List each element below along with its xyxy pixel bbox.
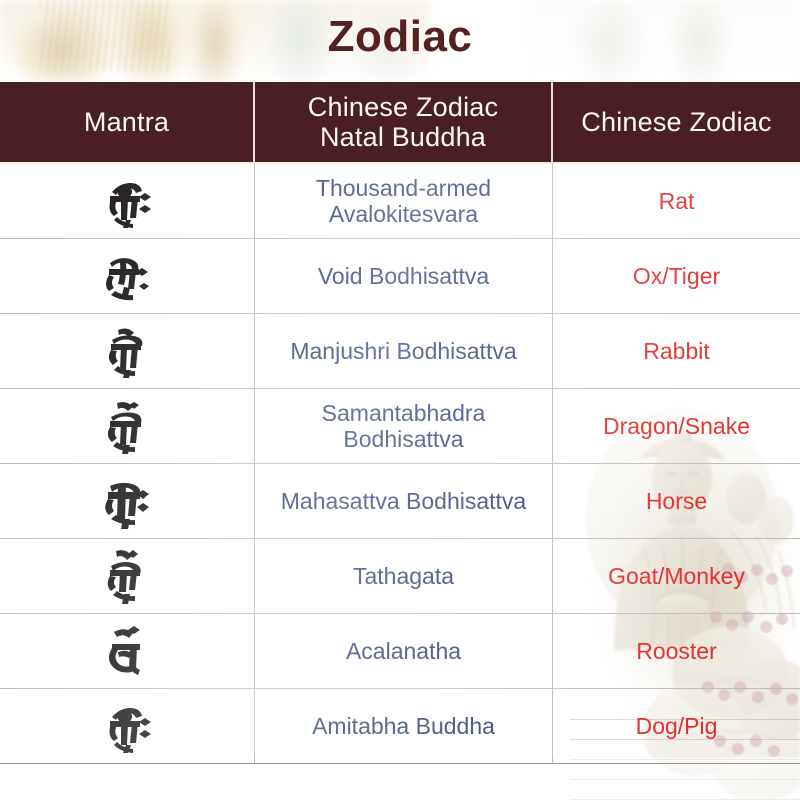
tibetan-seed-syllable-hrih-2-icon <box>96 697 158 755</box>
column-header-natal-buddha-line2: Natal Buddha <box>308 122 498 152</box>
cell-natal-buddha: Amitabha Buddha <box>255 689 553 763</box>
tibetan-seed-syllable-a-icon <box>96 322 158 380</box>
tibetan-seed-syllable-hum-icon <box>96 622 158 680</box>
cell-natal-buddha: Void Bodhisattva <box>255 239 553 313</box>
tibetan-seed-syllable-bhah-icon <box>96 547 158 605</box>
cell-natal-buddha: Thousand-armed Avalokitesvara <box>255 164 553 238</box>
zodiac-table: Mantra Chinese Zodiac Natal Buddha Chine… <box>0 82 800 764</box>
column-header-mantra-label: Mantra <box>84 107 169 137</box>
cell-mantra <box>0 614 255 688</box>
column-header-chinese-zodiac: Chinese Zodiac <box>553 82 800 162</box>
cell-chinese-zodiac: Horse <box>553 464 800 538</box>
column-header-natal-buddha: Chinese Zodiac Natal Buddha <box>255 82 553 162</box>
table-row: Manjushri Bodhisattva Rabbit <box>0 314 800 389</box>
cell-mantra <box>0 464 255 538</box>
column-header-natal-buddha-line1: Chinese Zodiac <box>308 92 498 122</box>
cell-natal-buddha: Manjushri Bodhisattva <box>255 314 553 388</box>
cell-mantra <box>0 239 255 313</box>
cell-chinese-zodiac: Rat <box>553 164 800 238</box>
cell-natal-buddha-line1: Samantabhadra <box>322 400 486 426</box>
tibetan-seed-syllable-sa-icon <box>96 472 158 530</box>
cell-mantra <box>0 314 255 388</box>
column-header-chinese-zodiac-label: Chinese Zodiac <box>581 107 771 137</box>
cell-chinese-zodiac: Dog/Pig <box>553 689 800 763</box>
cell-chinese-zodiac: Dragon/Snake <box>553 389 800 463</box>
table-row: Samantabhadra Bodhisattva Dragon/Snake <box>0 389 800 464</box>
cell-chinese-zodiac: Ox/Tiger <box>553 239 800 313</box>
cell-natal-buddha: Acalanatha <box>255 614 553 688</box>
table-row: Tathagata Goat/Monkey <box>0 539 800 614</box>
cell-mantra <box>0 689 255 763</box>
tibetan-seed-syllable-am-icon <box>96 397 158 455</box>
cell-mantra <box>0 164 255 238</box>
table-row: Acalanatha Rooster <box>0 614 800 689</box>
cell-natal-buddha: Samantabhadra Bodhisattva <box>255 389 553 463</box>
cell-chinese-zodiac: Goat/Monkey <box>553 539 800 613</box>
cell-natal-buddha-line1: Thousand-armed <box>316 175 491 201</box>
table-row: Void Bodhisattva Ox/Tiger <box>0 239 800 314</box>
cell-natal-buddha: Mahasattva Bodhisattva <box>255 464 553 538</box>
table-row: Thousand-armed Avalokitesvara Rat <box>0 164 800 239</box>
tibetan-seed-syllable-trah-icon <box>96 247 158 305</box>
cell-natal-buddha-line2: Bodhisattva <box>322 426 486 452</box>
table-header-row: Mantra Chinese Zodiac Natal Buddha Chine… <box>0 82 800 164</box>
table-row: Mahasattva Bodhisattva Horse <box>0 464 800 539</box>
cell-natal-buddha: Tathagata <box>255 539 553 613</box>
table-row: Amitabha Buddha Dog/Pig <box>0 689 800 764</box>
cell-mantra <box>0 539 255 613</box>
cell-natal-buddha-line2: Avalokitesvara <box>316 201 491 227</box>
tibetan-seed-syllable-hrih-icon <box>96 172 158 230</box>
column-header-mantra: Mantra <box>0 82 255 162</box>
zodiac-table-page: Zodiac Mantra Chinese Zodiac Natal Buddh… <box>0 0 800 800</box>
cell-mantra <box>0 389 255 463</box>
page-title: Zodiac <box>0 6 800 68</box>
cell-chinese-zodiac: Rooster <box>553 614 800 688</box>
cell-chinese-zodiac: Rabbit <box>553 314 800 388</box>
